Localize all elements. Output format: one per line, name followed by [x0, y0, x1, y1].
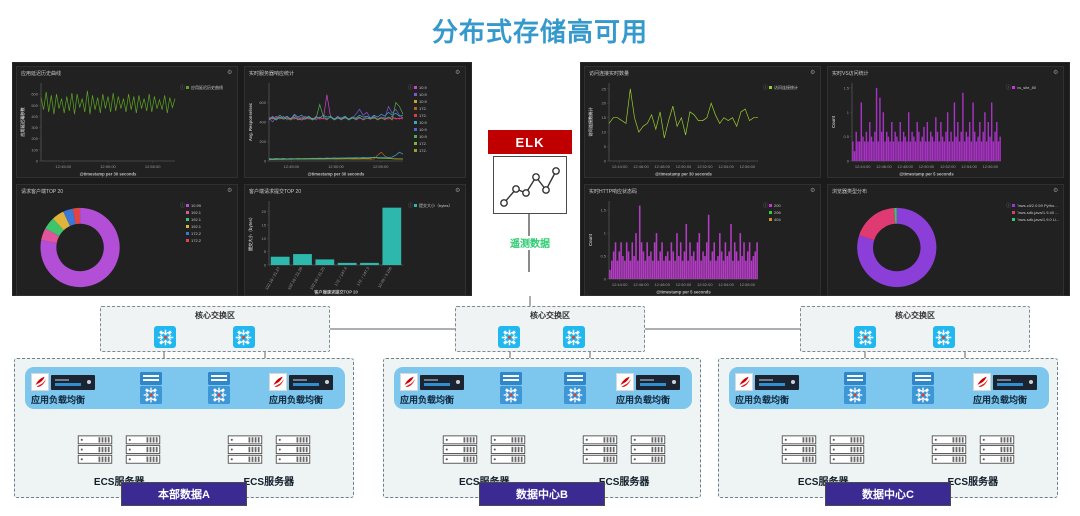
server-rack-row — [226, 435, 312, 470]
gear-icon[interactable]: ⚙ — [455, 70, 461, 76]
f5-logo-icon — [269, 373, 287, 391]
legend-swatch-icon — [186, 86, 189, 89]
svg-text:12:44:00: 12:44:00 — [612, 282, 628, 287]
f5-logo-icon — [735, 373, 753, 391]
core-zone-middle: 核心交换区 — [455, 306, 645, 352]
svg-text:12:56:00: 12:56:00 — [740, 282, 756, 287]
gear-icon[interactable]: ⚙ — [455, 188, 461, 194]
panel-title: 实时HTTP响应状态码 — [585, 185, 820, 195]
svg-text:192.16 / 21.25: 192.16 / 21.25 — [309, 265, 327, 290]
svg-text:600: 600 — [259, 100, 266, 105]
datacenter-switch-right[interactable] — [910, 371, 936, 405]
core-zone-right: 核心交换区 — [800, 306, 1030, 352]
legend-label: "aws-sdk-java/1.9.0 Li... — [1017, 217, 1059, 222]
load-balancer-icon — [735, 372, 801, 392]
svg-text:0: 0 — [604, 277, 607, 282]
legend-label: 172.2 — [191, 238, 201, 243]
panel-connection-count[interactable]: 访问连接实时数量⚙051015202512:44:0012:46:0012:48… — [584, 66, 821, 178]
svg-text:客户端请求提交TOP 20: 客户端请求提交TOP 20 — [313, 289, 358, 296]
datacenter-b: 应用负载均衡应用负载均衡ECS服务器ECS服务器 — [383, 358, 701, 498]
svg-text:12:45:00: 12:45:00 — [56, 164, 72, 169]
legend-label: "aws-sdk-java/1.9.40 ... — [1017, 210, 1058, 215]
gear-icon[interactable]: ⚙ — [1053, 188, 1059, 194]
info-icon[interactable]: ⓘ — [1006, 203, 1011, 209]
legend-swatch-icon — [186, 218, 189, 221]
datacenter-c: 应用负载均衡应用负载均衡ECS服务器ECS服务器 — [718, 358, 1058, 498]
legend-label: 10.99 — [191, 203, 201, 208]
chart-legend: ⓘ提交大小（bytes） — [414, 203, 462, 210]
legend-swatch-icon — [414, 135, 417, 138]
svg-text:15: 15 — [602, 115, 607, 120]
panel-title: 访问连接实时数量 — [585, 67, 820, 77]
svg-text:10: 10 — [602, 130, 607, 135]
svg-text:12:44:00: 12:44:00 — [612, 164, 628, 169]
server-rack-row — [930, 435, 1016, 470]
legend-item[interactable]: 应用延迟历史曲线 — [186, 85, 234, 91]
svg-text:0: 0 — [264, 159, 267, 164]
svg-text:12:54:00: 12:54:00 — [961, 164, 977, 169]
ecs-group-right: ECS服务器 — [226, 435, 312, 488]
legend-label: 访问连接统计 — [774, 85, 798, 90]
svg-text:12:56:00: 12:56:00 — [740, 164, 756, 169]
svg-text:15: 15 — [262, 223, 267, 228]
load-balancer-left[interactable]: 应用负载均衡 — [31, 372, 97, 406]
svg-text:192.16 / 21.27: 192.16 / 21.27 — [264, 265, 282, 290]
svg-text:Count: Count — [588, 233, 593, 246]
slide-root: 分布式存储高可用 应用延迟历史曲线⚙010020030040050060012:… — [0, 0, 1080, 516]
svg-text:200: 200 — [259, 139, 266, 144]
svg-text:12:46:00: 12:46:00 — [633, 164, 649, 169]
svg-text:12:48:00: 12:48:00 — [897, 164, 913, 169]
load-balancer-right[interactable]: 应用负载均衡 — [269, 372, 335, 406]
svg-text:300: 300 — [31, 125, 38, 130]
load-balancer-icon — [269, 372, 335, 392]
svg-text:172. / 147.3: 172. / 147.3 — [355, 265, 370, 286]
svg-text:5: 5 — [604, 144, 607, 149]
svg-text:12:48:00: 12:48:00 — [654, 164, 670, 169]
legend-item[interactable]: 192.1 — [186, 217, 234, 223]
legend-label: 404 — [774, 217, 781, 222]
legend-swatch-icon — [1012, 211, 1015, 214]
appliance-icon — [289, 375, 333, 390]
load-balancer-label: 应用负载均衡 — [616, 393, 682, 406]
panel-title: 实时服务器响应统计 — [245, 67, 465, 77]
panel-realtime-vs-access[interactable]: 实时VS访问统计⚙00.511.512:44:0012:46:0012:48:0… — [827, 66, 1064, 178]
panel-client-top20-donut[interactable]: 请求客户端TOP 20⚙ⓘ10.99192.1192.1192.1172.217… — [16, 184, 238, 296]
legend-label: 192.1 — [191, 217, 201, 222]
datacenter-name-plaque: 本部数据A — [121, 482, 247, 506]
f5-logo-icon — [616, 373, 634, 391]
legend-swatch-icon — [414, 93, 417, 96]
network-switch-icon[interactable] — [154, 326, 176, 348]
svg-text:12:52:00: 12:52:00 — [697, 164, 713, 169]
legend-label: 10.9 — [419, 134, 427, 139]
status-dot-icon — [87, 380, 91, 384]
svg-text:12:54:00: 12:54:00 — [718, 164, 734, 169]
legend-item[interactable]: 172. — [414, 141, 462, 147]
svg-text:25: 25 — [602, 86, 607, 91]
legend-label: 172. — [419, 141, 427, 146]
panel-app-latency-trend[interactable]: 应用延迟历史曲线⚙010020030040050060012:45:0012:5… — [16, 66, 238, 178]
network-topology: 核心交换区核心交换区核心交换区应用负载均衡应用负载均衡ECS服务器ECS服务器本… — [0, 296, 1080, 516]
gear-icon[interactable]: ⚙ — [810, 188, 816, 194]
network-switch-icon[interactable] — [233, 326, 255, 348]
legend-item[interactable]: 访问连接统计 — [769, 85, 817, 91]
datacenter-switch-right[interactable] — [562, 371, 588, 405]
legend-swatch-icon — [769, 204, 772, 207]
svg-text:1: 1 — [604, 231, 607, 236]
legend-swatch-icon — [186, 225, 189, 228]
server-rack-icon[interactable] — [930, 435, 968, 470]
legend-swatch-icon — [414, 149, 417, 152]
page-title: 分布式存储高可用 — [0, 12, 1080, 49]
datacenter-switch-right[interactable] — [206, 371, 232, 405]
load-balancer-label: 应用负载均衡 — [31, 393, 97, 406]
load-balancer-left[interactable]: 应用负载均衡 — [735, 372, 801, 406]
legend-swatch-icon — [414, 128, 417, 131]
elk-badge[interactable]: ELK — [488, 130, 572, 154]
legend-swatch-icon — [414, 107, 417, 110]
left-kibana-dashboard: 应用延迟历史曲线⚙010020030040050060012:45:0012:5… — [12, 62, 472, 296]
svg-text:12:45:00: 12:45:00 — [284, 164, 300, 169]
svg-text:1: 1 — [847, 110, 850, 115]
svg-text:0: 0 — [264, 263, 267, 268]
load-balancer-label: 应用负载均衡 — [269, 393, 335, 406]
chart-legend: ⓘ10.99192.1192.1192.1172.2172.2 — [186, 203, 234, 245]
status-dot-icon — [325, 380, 329, 384]
load-balancer-label: 应用负载均衡 — [973, 393, 1039, 406]
svg-text:20: 20 — [602, 101, 607, 106]
panel-title: 应用延迟历史曲线 — [17, 67, 237, 77]
svg-text:172. / 147.4: 172. / 147.4 — [333, 265, 348, 286]
legend-swatch-icon — [769, 211, 772, 214]
legend-swatch-icon — [414, 100, 417, 103]
legend-label: 192.1 — [191, 224, 201, 229]
legend-swatch-icon — [414, 204, 417, 207]
elk-line-chart-icon — [493, 156, 567, 214]
legend-item[interactable]: 172. — [414, 106, 462, 112]
server-rack-row — [581, 435, 667, 470]
svg-text:提交大小（bytes）: 提交大小（bytes） — [247, 215, 254, 251]
chart-legend: ⓘ"aws-cli/2.0.59 Pytho..."aws-sdk-java/1… — [1012, 203, 1060, 224]
legend-item[interactable]: 172. — [414, 148, 462, 154]
svg-text:12:44:00: 12:44:00 — [855, 164, 871, 169]
load-balancer-label: 应用负载均衡 — [735, 393, 801, 406]
ecs-group-left: ECS服务器 — [441, 435, 527, 488]
legend-label: 10.9 — [419, 92, 427, 97]
svg-text:100: 100 — [31, 147, 38, 152]
svg-text:12:50:00: 12:50:00 — [100, 164, 116, 169]
status-dot-icon — [456, 380, 460, 384]
legend-item[interactable]: 提交大小（bytes） — [414, 203, 462, 209]
svg-text:200: 200 — [31, 136, 38, 141]
server-rack-icon[interactable] — [441, 435, 479, 470]
svg-text:1.5: 1.5 — [600, 208, 606, 213]
panel-title: 实时VS访问统计 — [828, 67, 1063, 77]
svg-text:192.16 / 21.26: 192.16 / 21.26 — [286, 265, 304, 290]
svg-text:10: 10 — [262, 236, 267, 241]
core-zone-left: 核心交换区 — [100, 306, 330, 352]
ecs-group-left: ECS服务器 — [780, 435, 866, 488]
gear-icon[interactable]: ⚙ — [1053, 70, 1059, 76]
chart-legend: ⓘ200206404 — [769, 203, 817, 224]
chart-legend: ⓘ10.910.910.9172.172.10.910.910.9172.172… — [414, 85, 462, 155]
server-rack-icon[interactable] — [581, 435, 619, 470]
legend-item[interactable]: "aws-sdk-java/1.9.40 ... — [1012, 210, 1060, 216]
legend-label: 172. — [419, 148, 427, 153]
info-icon[interactable]: ⓘ — [763, 203, 768, 209]
elk-connector-bottom — [528, 250, 530, 272]
datacenter-switch-left[interactable] — [842, 371, 868, 405]
panel-http-status[interactable]: 实时HTTP响应状态码⚙00.511.512:44:0012:46:0012:4… — [584, 184, 821, 296]
svg-text:@timestamp per 30 seconds: @timestamp per 30 seconds — [308, 172, 365, 177]
core-zone-label: 核心交换区 — [456, 310, 644, 321]
legend-label: vs_site_80 — [1017, 85, 1036, 90]
load-balancer-right[interactable]: 应用负载均衡 — [616, 372, 682, 406]
legend-swatch-icon — [186, 239, 189, 242]
server-rack-icon[interactable] — [828, 435, 866, 470]
legend-swatch-icon — [1012, 204, 1015, 207]
panel-title: 客户端请求提交TOP 20 — [245, 185, 465, 195]
svg-text:@timestamp per 5 seconds: @timestamp per 5 seconds — [656, 290, 711, 295]
load-balancer-icon — [400, 372, 466, 392]
panel-title: 请求客户端TOP 20 — [17, 185, 237, 195]
svg-text:10.99 / 3.106: 10.99 / 3.106 — [377, 265, 393, 288]
svg-text:12:46:00: 12:46:00 — [876, 164, 892, 169]
svg-text:1.5: 1.5 — [843, 85, 849, 90]
network-switch-icon[interactable] — [563, 326, 585, 348]
legend-swatch-icon — [414, 121, 417, 124]
svg-text:5: 5 — [264, 249, 267, 254]
legend-label: 172.2 — [191, 231, 201, 236]
datacenter-name-plaque: 数据中心C — [825, 482, 951, 506]
network-switch-icon[interactable] — [854, 326, 876, 348]
chart-legend: ⓘvs_site_80 — [1012, 85, 1060, 92]
legend-swatch-icon — [769, 218, 772, 221]
panel-realtime-service-response[interactable]: 实时服务器响应统计⚙020040060012:45:0012:50:0012:5… — [244, 66, 466, 178]
gear-icon[interactable]: ⚙ — [810, 70, 816, 76]
ecs-group-right: ECS服务器 — [581, 435, 667, 488]
legend-label: 10.9 — [419, 85, 427, 90]
load-balancer-icon — [973, 372, 1039, 392]
legend-item[interactable]: vs_site_80 — [1012, 85, 1060, 91]
legend-label: 172. — [419, 113, 427, 118]
legend-item[interactable]: 404 — [769, 217, 817, 223]
legend-item[interactable]: 10.9 — [414, 134, 462, 140]
network-switch-icon[interactable] — [933, 326, 955, 348]
info-icon[interactable]: ⓘ — [180, 203, 185, 209]
svg-text:600: 600 — [31, 92, 38, 97]
svg-text:@timestamp per 5 seconds: @timestamp per 5 seconds — [899, 172, 954, 177]
svg-text:应用延迟毫秒数: 应用延迟毫秒数 — [19, 107, 26, 137]
panel-client-bandwidth-top20[interactable]: 客户端请求提交TOP 20⚙05101520192.16 / 21.27192.… — [244, 184, 466, 296]
status-dot-icon — [1029, 380, 1033, 384]
svg-text:12:50:00: 12:50:00 — [919, 164, 935, 169]
core-zone-label: 核心交换区 — [101, 310, 329, 321]
telemetry-label: 遥测数据 — [484, 235, 576, 250]
ecs-group-left: ECS服务器 — [76, 435, 162, 488]
legend-item[interactable]: 10.9 — [414, 120, 462, 126]
f5-logo-icon — [973, 373, 991, 391]
chart-legend: ⓘ应用延迟历史曲线 — [186, 85, 234, 92]
server-rack-icon[interactable] — [274, 435, 312, 470]
info-icon[interactable]: ⓘ — [180, 85, 185, 91]
svg-text:访问连接数统计: 访问连接数统计 — [587, 107, 594, 137]
f5-logo-icon — [400, 373, 418, 391]
legend-item[interactable]: "aws-cli/2.0.59 Pytho... — [1012, 203, 1060, 209]
info-icon[interactable]: ⓘ — [1006, 85, 1011, 91]
server-rack-icon[interactable] — [124, 435, 162, 470]
svg-text:400: 400 — [31, 114, 38, 119]
network-switch-icon[interactable] — [498, 326, 520, 348]
appliance-icon — [51, 375, 95, 390]
svg-text:0: 0 — [36, 159, 39, 164]
svg-text:12:50:00: 12:50:00 — [676, 164, 692, 169]
legend-label: 172. — [419, 106, 427, 111]
svg-text:@timestamp per 30 seconds: @timestamp per 30 seconds — [655, 172, 712, 177]
legend-item[interactable]: 10.9 — [414, 92, 462, 98]
legend-item[interactable]: "aws-sdk-java/1.9.0 Li... — [1012, 217, 1060, 223]
server-rack-icon[interactable] — [978, 435, 1016, 470]
svg-text:@timestamp per 30 seconds: @timestamp per 30 seconds — [80, 172, 137, 177]
legend-item[interactable]: 192.1 — [186, 224, 234, 230]
svg-text:500: 500 — [31, 103, 38, 108]
svg-text:12:48:00: 12:48:00 — [654, 282, 670, 287]
legend-swatch-icon — [186, 232, 189, 235]
elk-block: ELK 遥测数据 — [484, 130, 576, 260]
datacenter-a: 应用负载均衡应用负载均衡ECS服务器ECS服务器 — [14, 358, 354, 498]
legend-label: 提交大小（bytes） — [419, 203, 453, 208]
svg-text:12:52:00: 12:52:00 — [940, 164, 956, 169]
right-kibana-dashboard: 访问连接实时数量⚙051015202512:44:0012:46:0012:48… — [580, 62, 1070, 296]
datacenter-switch-left[interactable] — [138, 371, 164, 405]
svg-text:Avg. Response/sec: Avg. Response/sec — [248, 102, 253, 141]
server-rack-icon[interactable] — [780, 435, 818, 470]
datacenter-switch-left[interactable] — [498, 371, 524, 405]
legend-item[interactable]: 10.9 — [414, 99, 462, 105]
server-rack-icon[interactable] — [489, 435, 527, 470]
gear-icon[interactable]: ⚙ — [227, 188, 233, 194]
legend-item[interactable]: 206 — [769, 210, 817, 216]
server-rack-icon[interactable] — [226, 435, 264, 470]
svg-text:Count: Count — [831, 115, 836, 128]
server-rack-row — [76, 435, 162, 470]
svg-text:12:50:00: 12:50:00 — [328, 164, 344, 169]
legend-swatch-icon — [414, 86, 417, 89]
legend-swatch-icon — [414, 142, 417, 145]
svg-text:0.5: 0.5 — [843, 134, 849, 139]
core-zone-label: 核心交换区 — [801, 310, 1029, 321]
legend-swatch-icon — [1012, 86, 1015, 89]
legend-swatch-icon — [1012, 218, 1015, 221]
svg-text:0.5: 0.5 — [600, 254, 606, 259]
load-balancer-right[interactable]: 应用负载均衡 — [973, 372, 1039, 406]
elk-connector-top — [528, 214, 530, 236]
load-balancer-label: 应用负载均衡 — [400, 393, 466, 406]
legend-swatch-icon — [414, 114, 417, 117]
legend-swatch-icon — [769, 86, 772, 89]
server-rack-icon[interactable] — [629, 435, 667, 470]
status-dot-icon — [672, 380, 676, 384]
svg-text:12:55:00: 12:55:00 — [145, 164, 161, 169]
svg-text:12:56:00: 12:56:00 — [983, 164, 999, 169]
load-balancer-icon — [616, 372, 682, 392]
legend-item[interactable]: 192.1 — [186, 210, 234, 216]
datacenter-name-plaque: 数据中心B — [479, 482, 605, 506]
svg-text:20: 20 — [262, 209, 267, 214]
legend-label: 10.9 — [419, 99, 427, 104]
legend-item[interactable]: 172. — [414, 113, 462, 119]
ecs-group-right: ECS服务器 — [930, 435, 1016, 488]
gear-icon[interactable]: ⚙ — [227, 70, 233, 76]
svg-text:12:55:00: 12:55:00 — [373, 164, 389, 169]
legend-label: 206 — [774, 210, 781, 215]
svg-text:12:46:00: 12:46:00 — [633, 282, 649, 287]
legend-swatch-icon — [186, 204, 189, 207]
panel-chart: 05101520192.16 / 21.27192.16 / 21.26192.… — [245, 196, 465, 295]
appliance-icon — [755, 375, 799, 390]
legend-item[interactable]: 10.9 — [414, 127, 462, 133]
load-balancer-icon — [31, 372, 97, 392]
panel-chart: 00.511.512:44:0012:46:0012:48:0012:50:00… — [828, 78, 1063, 177]
legend-label: 10.9 — [419, 127, 427, 132]
panel-title: 浏览器类型分布 — [828, 185, 1063, 195]
legend-label: 10.9 — [419, 120, 427, 125]
status-dot-icon — [791, 380, 795, 384]
info-icon[interactable]: ⓘ — [763, 85, 768, 91]
svg-text:12:54:00: 12:54:00 — [718, 282, 734, 287]
legend-item[interactable]: 172.2 — [186, 238, 234, 244]
legend-label: 200 — [774, 203, 781, 208]
svg-text:0: 0 — [604, 159, 607, 164]
f5-logo-icon — [31, 373, 49, 391]
legend-item[interactable]: 172.2 — [186, 231, 234, 237]
server-rack-icon[interactable] — [76, 435, 114, 470]
info-icon[interactable]: ⓘ — [408, 203, 413, 209]
server-rack-row — [780, 435, 866, 470]
panel-chart: 051015202512:44:0012:46:0012:48:0012:50:… — [585, 78, 820, 177]
info-icon[interactable]: ⓘ — [408, 85, 413, 91]
legend-item[interactable]: 10.99 — [186, 203, 234, 209]
legend-label: 应用延迟历史曲线 — [191, 85, 223, 90]
legend-swatch-icon — [186, 211, 189, 214]
svg-text:0: 0 — [847, 159, 850, 164]
panel-chart: 010020030040050060012:45:0012:50:0012:55… — [17, 78, 237, 177]
svg-text:12:50:00: 12:50:00 — [676, 282, 692, 287]
legend-item[interactable]: 10.9 — [414, 85, 462, 91]
appliance-icon — [636, 375, 680, 390]
panel-browser-type[interactable]: 浏览器类型分布⚙ⓘ"aws-cli/2.0.59 Pytho..."aws-sd… — [827, 184, 1064, 296]
legend-item[interactable]: 200 — [769, 203, 817, 209]
server-rack-row — [441, 435, 527, 470]
appliance-icon — [993, 375, 1037, 390]
appliance-icon — [420, 375, 464, 390]
load-balancer-left[interactable]: 应用负载均衡 — [400, 372, 466, 406]
svg-text:12:52:00: 12:52:00 — [697, 282, 713, 287]
chart-legend: ⓘ访问连接统计 — [769, 85, 817, 92]
legend-label: 192.1 — [191, 210, 201, 215]
legend-label: "aws-cli/2.0.59 Pytho... — [1017, 203, 1058, 208]
svg-text:400: 400 — [259, 120, 266, 125]
